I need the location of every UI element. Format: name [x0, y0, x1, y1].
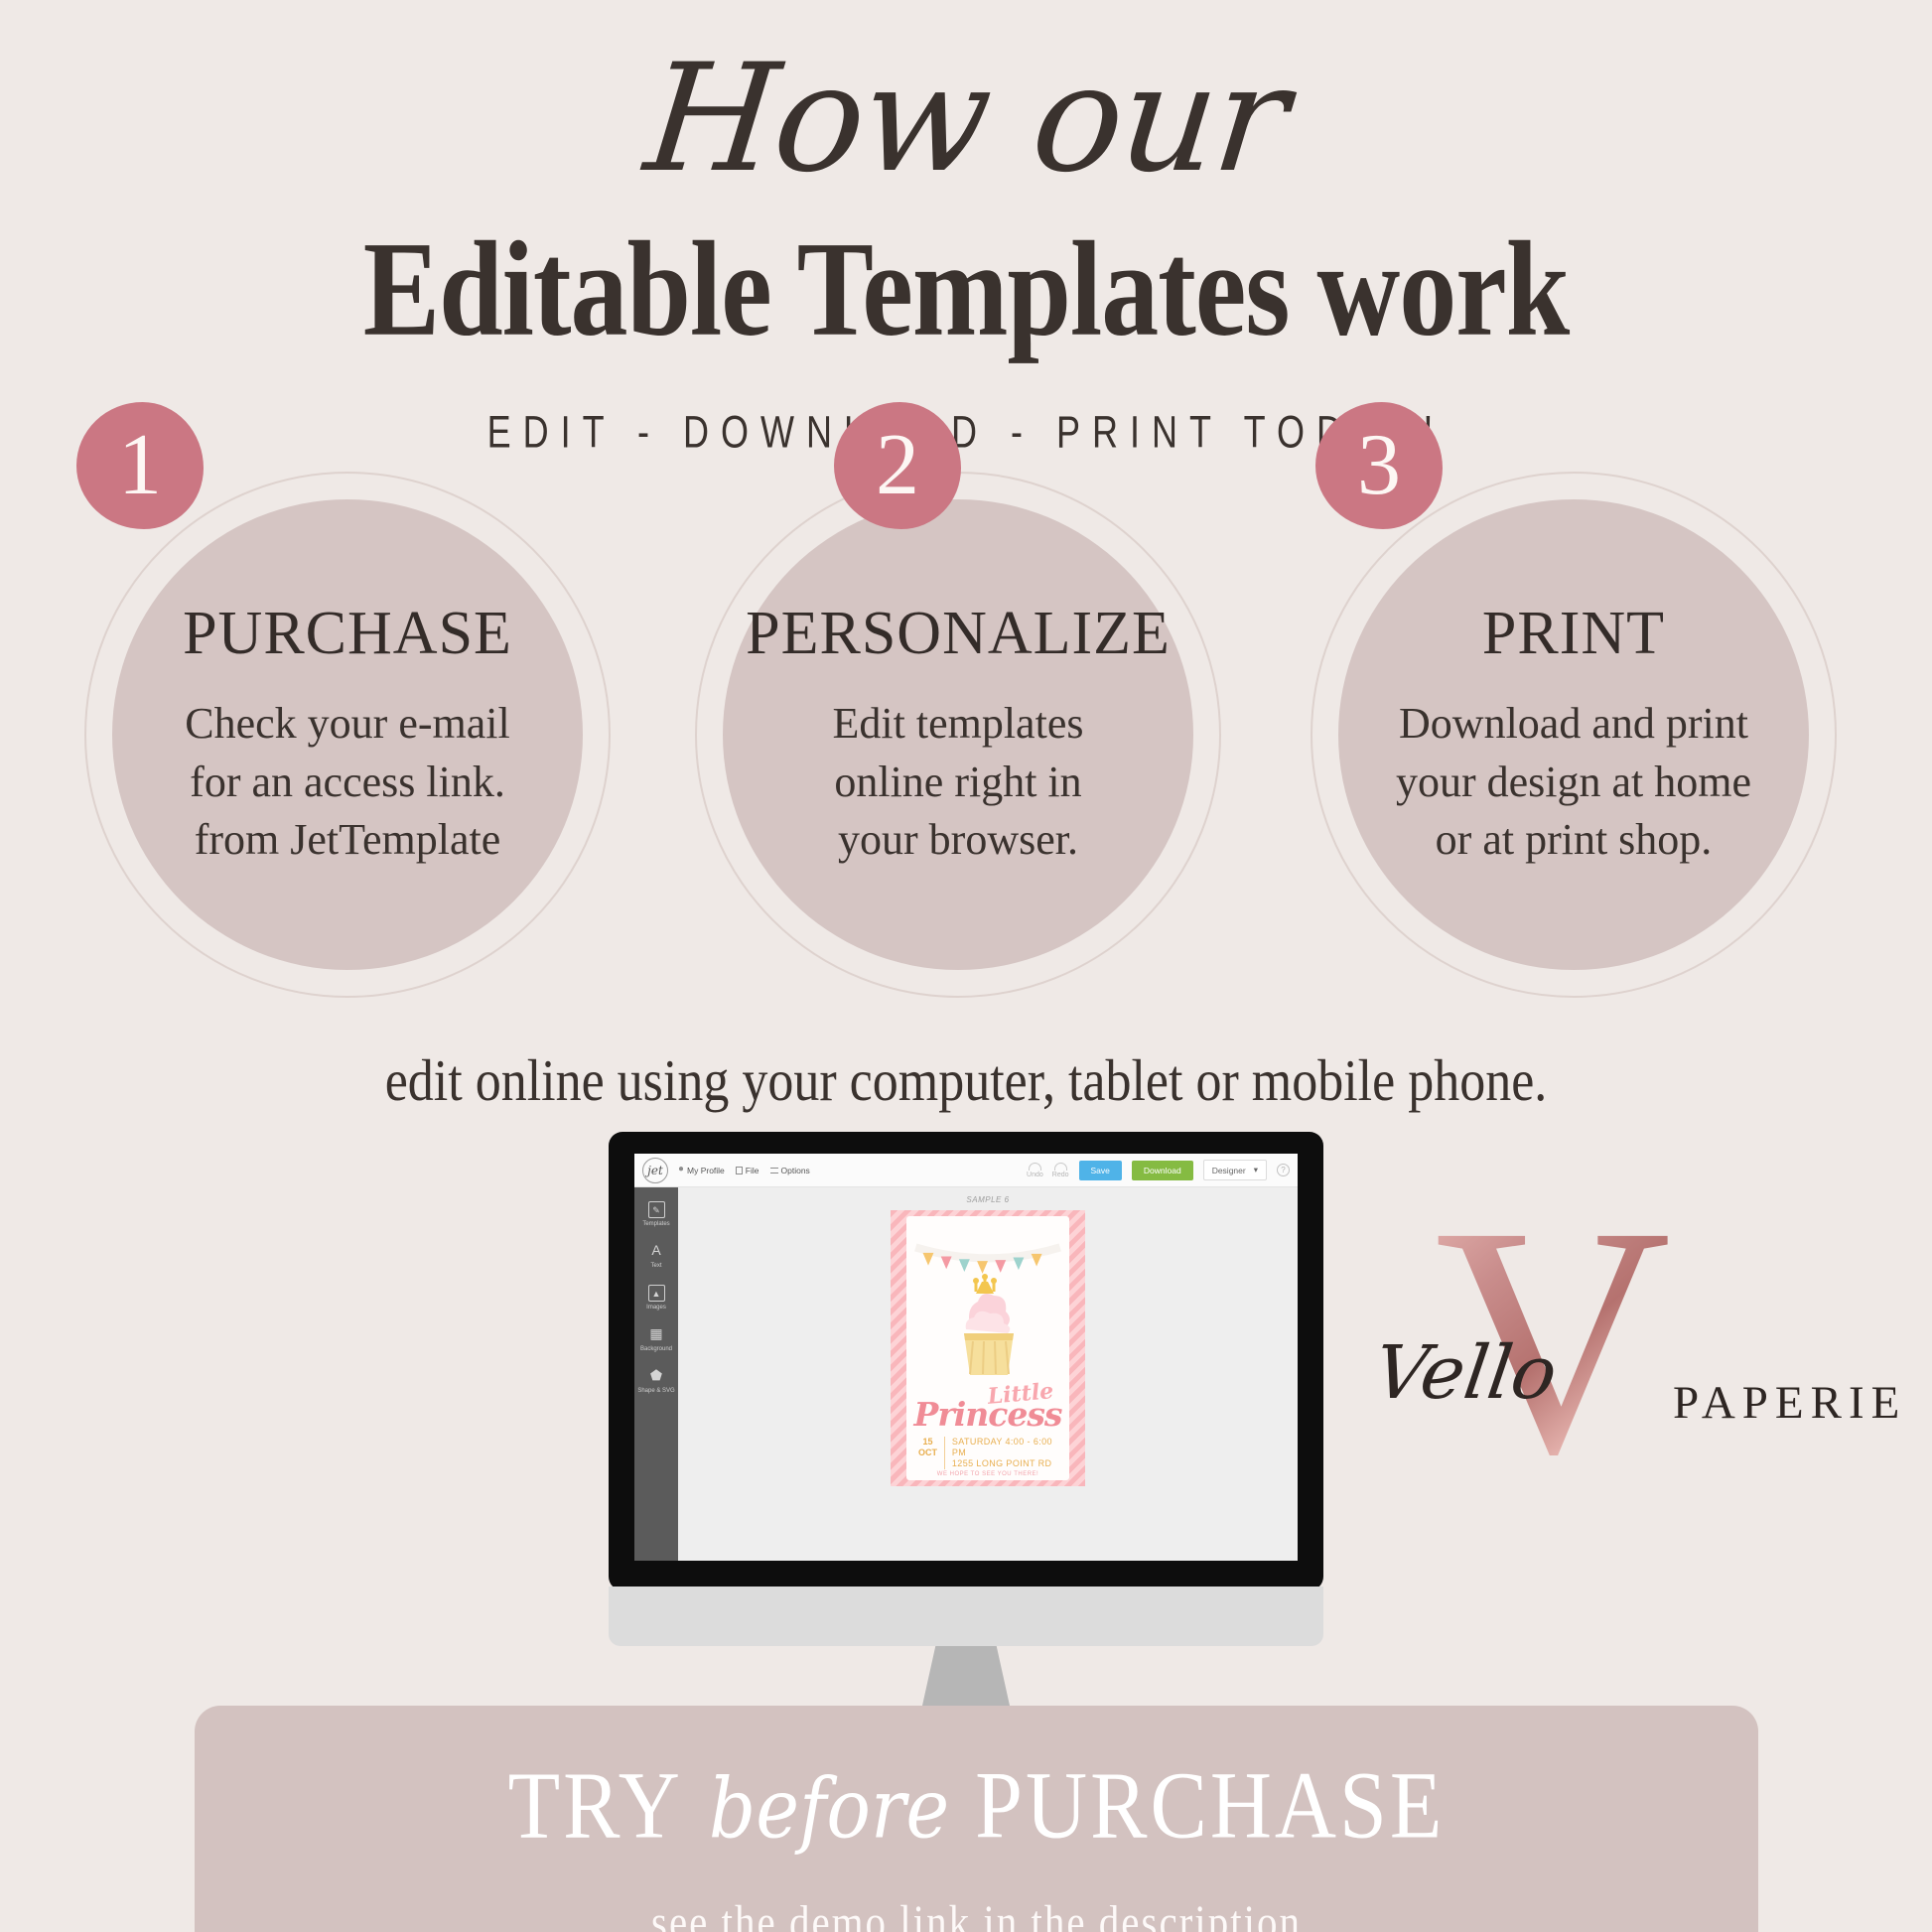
try-before-purchase-banner: TRY before PURCHASE see the demo link in…	[195, 1706, 1758, 1932]
undo-label: Undo	[1027, 1172, 1043, 1178]
images-icon: ▲	[648, 1285, 665, 1302]
history-controls: Undo Redo	[1027, 1163, 1068, 1178]
banner-headline: TRY before PURCHASE	[195, 1749, 1758, 1861]
title-script: How our	[0, 42, 1932, 199]
step-text-line-1: Edit templates	[695, 695, 1221, 754]
step-body: PERSONALIZE Edit templates online right …	[695, 599, 1221, 870]
menu-label: My Profile	[687, 1166, 725, 1175]
shape-svg-icon: ⬟	[648, 1367, 665, 1384]
step-title: PRINT	[1311, 599, 1837, 669]
canvas-label: SAMPLE 6	[966, 1195, 1009, 1204]
card-date-month: OCT	[918, 1448, 937, 1458]
page-subtitle: EDIT - DOWNLOAD - PRINT TODAY!	[0, 406, 1932, 459]
card-inner: Little Princess 15 OCT SATURDAY	[906, 1216, 1069, 1480]
download-button[interactable]: Download	[1132, 1161, 1193, 1180]
menu-options[interactable]: Options	[770, 1166, 810, 1175]
step-number-badge: 3	[1315, 402, 1443, 529]
card-info-line-1: SATURDAY 4:00 - 6:00 PM	[952, 1437, 1057, 1458]
step-print: 3 PRINT Download and print your design a…	[1311, 472, 1837, 998]
step-title: PERSONALIZE	[695, 599, 1221, 669]
page-title: Editable Templates work	[0, 212, 1932, 368]
file-icon	[736, 1167, 743, 1174]
page-header: How our Editable Templates work EDIT - D…	[0, 0, 1932, 448]
undo-button[interactable]: Undo	[1027, 1163, 1043, 1178]
designer-label: Designer	[1212, 1166, 1246, 1175]
step-text-line-1: Download and print	[1311, 695, 1837, 754]
menu-label: Options	[781, 1166, 810, 1175]
sidebar-item-templates[interactable]: ✎ Templates	[634, 1193, 678, 1235]
logo-wordmark: PAPERIE	[1673, 1376, 1906, 1430]
steps-section: 1 PURCHASE Check your e-mail for an acce…	[0, 472, 1932, 998]
devices-caption: edit online using your computer, tablet …	[0, 1047, 1932, 1115]
editor-menu: My Profile File Options	[678, 1166, 810, 1175]
card-details: 15 OCT SATURDAY 4:00 - 6:00 PM 1255 LONG…	[918, 1437, 1057, 1469]
help-icon[interactable]: ?	[1277, 1164, 1290, 1176]
card-date-day: 15	[918, 1437, 937, 1448]
save-button[interactable]: Save	[1079, 1161, 1122, 1180]
sidebar-item-images[interactable]: ▲ Images	[634, 1277, 678, 1318]
card-info-line-2: 1255 LONG POINT RD	[952, 1458, 1057, 1469]
sidebar-item-label: Images	[634, 1305, 678, 1311]
sidebar-item-background[interactable]: ▦ Background	[634, 1318, 678, 1360]
text-icon: A	[648, 1242, 665, 1259]
sidebar-item-label: Background	[634, 1346, 678, 1352]
step-text-line-3: or at print shop.	[1311, 811, 1837, 870]
step-text-line-2: for an access link.	[84, 754, 611, 812]
sidebar-item-text[interactable]: A Text	[634, 1235, 678, 1277]
banner-word-before: before	[709, 1761, 949, 1857]
card-date: 15 OCT	[918, 1437, 937, 1469]
step-text-line-2: online right in	[695, 754, 1221, 812]
card-divider	[944, 1437, 945, 1469]
step-personalize: 2 PERSONALIZE Edit templates online righ…	[695, 472, 1221, 998]
editor-body: ✎ Templates A Text ▲ Images ▦ Background	[634, 1187, 1298, 1561]
editor-toolbar: jet My Profile File Options	[634, 1154, 1298, 1187]
options-icon	[770, 1168, 778, 1173]
undo-icon	[1029, 1163, 1041, 1171]
monitor-bezel: jet My Profile File Options	[609, 1132, 1323, 1590]
step-text-line-3: from JetTemplate	[84, 811, 611, 870]
cupcake-icon	[942, 1272, 1034, 1379]
card-title: Little Princess	[906, 1381, 1069, 1434]
banner-word-purchase: PURCHASE	[975, 1749, 1445, 1861]
redo-button[interactable]: Redo	[1052, 1163, 1069, 1178]
chevron-down-icon: ▾	[1254, 1165, 1258, 1175]
logo-script: Vello	[1369, 1330, 1562, 1416]
redo-icon	[1054, 1163, 1067, 1171]
banner-word-try: TRY	[508, 1749, 683, 1861]
sidebar-item-shape-svg[interactable]: ⬟ Shape & SVG	[634, 1360, 678, 1402]
menu-my-profile[interactable]: My Profile	[678, 1166, 725, 1175]
step-body: PRINT Download and print your design at …	[1311, 599, 1837, 870]
card-footer: WE HOPE TO SEE YOU THERE!	[906, 1471, 1069, 1477]
editor-screen: jet My Profile File Options	[634, 1154, 1298, 1561]
card-info: SATURDAY 4:00 - 6:00 PM 1255 LONG POINT …	[952, 1437, 1057, 1469]
sidebar-item-label: Templates	[634, 1221, 678, 1227]
background-icon: ▦	[648, 1325, 665, 1342]
templates-icon: ✎	[648, 1201, 665, 1218]
jet-logo: jet	[642, 1158, 668, 1183]
sidebar-item-label: Text	[634, 1263, 678, 1269]
person-icon	[678, 1167, 684, 1174]
step-number-badge: 1	[76, 402, 204, 529]
step-purchase: 1 PURCHASE Check your e-mail for an acce…	[84, 472, 611, 998]
banner-subtext: see the demo link in the description	[195, 1894, 1758, 1932]
invitation-card[interactable]: Little Princess 15 OCT SATURDAY	[891, 1210, 1085, 1486]
step-body: PURCHASE Check your e-mail for an access…	[84, 599, 611, 870]
redo-label: Redo	[1052, 1172, 1069, 1178]
step-number-badge: 2	[834, 402, 961, 529]
step-text-line-3: your browser.	[695, 811, 1221, 870]
sidebar-item-label: Shape & SVG	[634, 1388, 678, 1394]
menu-file[interactable]: File	[736, 1166, 759, 1175]
step-text-line-2: your design at home	[1311, 754, 1837, 812]
step-text-line-1: Check your e-mail	[84, 695, 611, 754]
vello-paperie-logo: V Vello PAPERIE	[1375, 1191, 1891, 1449]
menu-label: File	[746, 1166, 759, 1175]
editor-sidebar: ✎ Templates A Text ▲ Images ▦ Background	[634, 1187, 678, 1561]
designer-dropdown[interactable]: Designer ▾	[1203, 1160, 1267, 1180]
monitor-chin	[609, 1587, 1323, 1646]
step-title: PURCHASE	[84, 599, 611, 669]
monitor-mockup: jet My Profile File Options	[609, 1132, 1323, 1739]
editor-canvas[interactable]: SAMPLE 6	[678, 1187, 1298, 1561]
